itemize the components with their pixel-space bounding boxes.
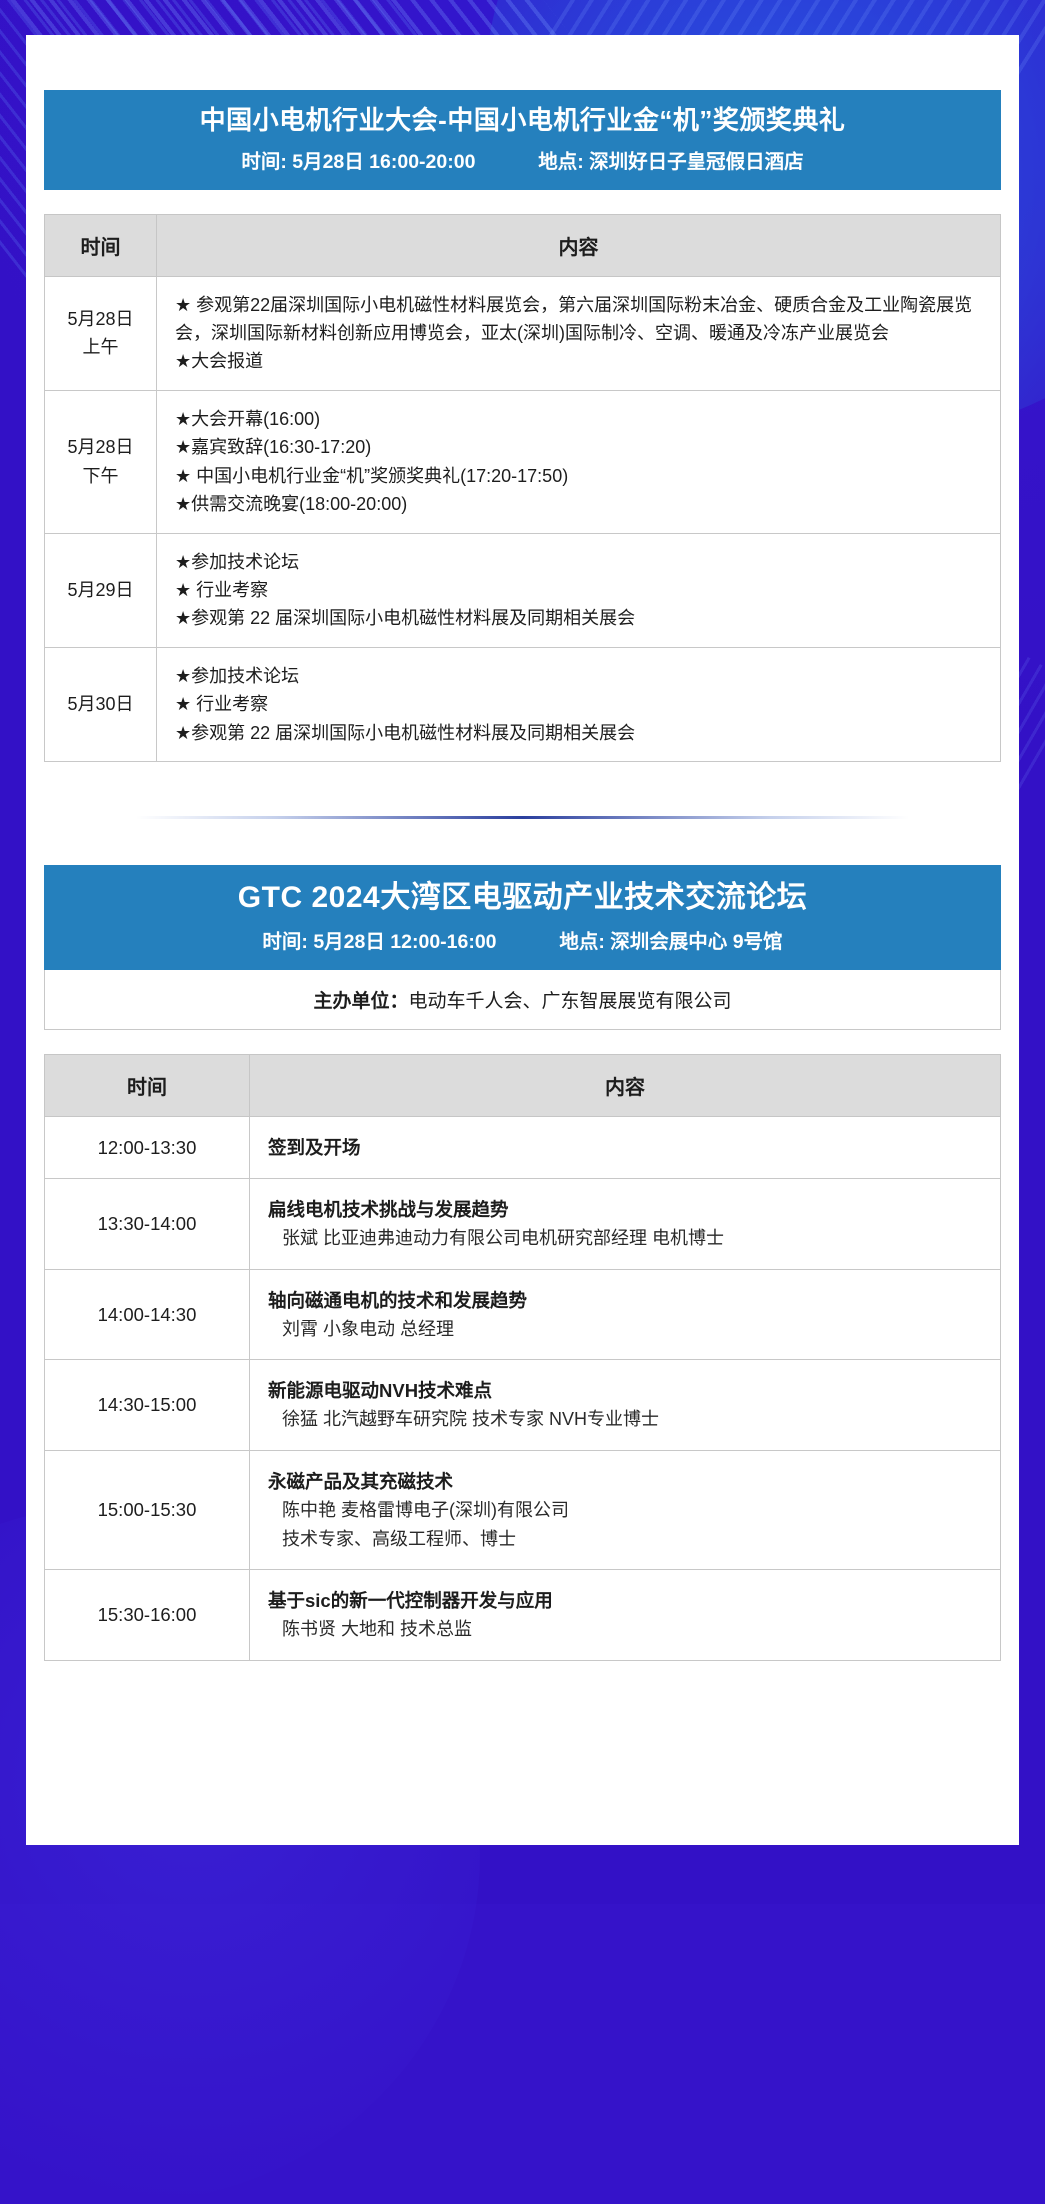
cell-time: 5月28日 上午 [45,276,157,390]
content-line: ★ 参观第22届深圳国际小电机磁性材料展览会，第六届深圳国际粉末冶金、硬质合金及… [175,291,990,348]
section2-host-row: 主办单位：电动车千人会、广东智展展览有限公司 [44,970,1001,1030]
section1-meta: 时间: 5月28日 16:00-20:00 地点: 深圳好日子皇冠假日酒店 [54,145,991,174]
cell-content: ★大会开幕(16:00) ★嘉宾致辞(16:30-17:20) ★ 中国小电机行… [157,390,1001,533]
content-line: ★参加技术论坛 [175,548,990,576]
cell-content: 轴向磁通电机的技术和发展趋势 刘霄 小象电动 总经理 [250,1269,1001,1360]
section-divider [136,816,909,819]
session-topic: 基于sic的新一代控制器开发与应用 [268,1586,990,1615]
cell-content: ★参加技术论坛 ★ 行业考察 ★参观第 22 届深圳国际小电机磁性材料展及同期相… [157,533,1001,647]
section1-time: 时间: 5月28日 16:00-20:00 [241,151,475,173]
session-speaker: 陈书贤 大地和 技术总监 [268,1615,990,1643]
cell-time: 15:00-15:30 [45,1450,250,1569]
col-header-content: 内容 [250,1054,1001,1116]
section1-agenda-table: 时间 内容 5月28日 上午 ★ 参观第22届深圳国际小电机磁性材料展览会，第六… [44,214,1001,763]
session-speaker: 陈中艳 麦格雷博电子(深圳)有限公司 技术专家、高级工程师、博士 [268,1496,990,1553]
section2-place: 地点: 深圳会展中心 9号馆 [559,931,782,953]
col-header-content: 内容 [157,214,1001,276]
content-line: ★参加技术论坛 [175,662,990,690]
table-row: 14:00-14:30 轴向磁通电机的技术和发展趋势 刘霄 小象电动 总经理 [45,1269,1001,1360]
cell-time: 14:00-14:30 [45,1269,250,1360]
content-line: ★ 中国小电机行业金“机”奖颁奖典礼(17:20-17:50) [175,462,990,490]
session-topic: 签到及开场 [268,1133,990,1162]
col-header-time: 时间 [45,1054,250,1116]
table-row: 14:30-15:00 新能源电驱动NVH技术难点 徐猛 北汽越野车研究院 技术… [45,1360,1001,1451]
table-row: 5月30日 ★参加技术论坛 ★ 行业考察 ★参观第 22 届深圳国际小电机磁性材… [45,647,1001,761]
section2-time: 时间: 5月28日 12:00-16:00 [262,931,496,953]
content-line: ★大会报道 [175,347,990,375]
cell-content: ★ 参观第22届深圳国际小电机磁性材料展览会，第六届深圳国际粉末冶金、硬质合金及… [157,276,1001,390]
cell-time: 13:30-14:00 [45,1178,250,1269]
section2-meta: 时间: 5月28日 12:00-16:00 地点: 深圳会展中心 9号馆 [54,925,991,954]
content-line: ★供需交流晚宴(18:00-20:00) [175,490,990,518]
cell-time: 12:00-13:30 [45,1116,250,1178]
table-header-row: 时间 内容 [45,1054,1001,1116]
cell-content: 签到及开场 [250,1116,1001,1178]
section2-agenda-table: 时间 内容 12:00-13:30 签到及开场 13:30-14:00 扁线电机… [44,1054,1001,1661]
cell-time: 5月29日 [45,533,157,647]
cell-time: 5月30日 [45,647,157,761]
table-row: 5月28日 上午 ★ 参观第22届深圳国际小电机磁性材料展览会，第六届深圳国际粉… [45,276,1001,390]
content-line: ★参观第 22 届深圳国际小电机磁性材料展及同期相关展会 [175,604,990,632]
cell-content: ★参加技术论坛 ★ 行业考察 ★参观第 22 届深圳国际小电机磁性材料展及同期相… [157,647,1001,761]
session-topic: 新能源电驱动NVH技术难点 [268,1376,990,1405]
session-speaker: 刘霄 小象电动 总经理 [268,1315,990,1343]
table-row: 5月28日 下午 ★大会开幕(16:00) ★嘉宾致辞(16:30-17:20)… [45,390,1001,533]
section1-place: 地点: 深圳好日子皇冠假日酒店 [538,151,803,173]
section2-title: GTC 2024大湾区电驱动产业技术交流论坛 [54,879,991,917]
table-row: 15:00-15:30 永磁产品及其充磁技术 陈中艳 麦格雷博电子(深圳)有限公… [45,1450,1001,1569]
col-header-time: 时间 [45,214,157,276]
cell-time: 5月28日 下午 [45,390,157,533]
table-row: 12:00-13:30 签到及开场 [45,1116,1001,1178]
session-speaker: 张斌 比亚迪弗迪动力有限公司电机研究部经理 电机博士 [268,1224,990,1252]
session-topic: 永磁产品及其充磁技术 [268,1467,990,1496]
cell-content: 基于sic的新一代控制器开发与应用 陈书贤 大地和 技术总监 [250,1569,1001,1660]
cell-content: 新能源电驱动NVH技术难点 徐猛 北汽越野车研究院 技术专家 NVH专业博士 [250,1360,1001,1451]
cell-content: 扁线电机技术挑战与发展趋势 张斌 比亚迪弗迪动力有限公司电机研究部经理 电机博士 [250,1178,1001,1269]
content-line: ★大会开幕(16:00) [175,405,990,433]
session-topic: 扁线电机技术挑战与发展趋势 [268,1195,990,1224]
section1-header: 中国小电机行业大会-中国小电机行业金“机”奖颁奖典礼 时间: 5月28日 16:… [44,90,1001,190]
table-header-row: 时间 内容 [45,214,1001,276]
table-row: 15:30-16:00 基于sic的新一代控制器开发与应用 陈书贤 大地和 技术… [45,1569,1001,1660]
host-label: 主办单位： [313,991,408,1012]
cell-time: 14:30-15:00 [45,1360,250,1451]
section2-header: GTC 2024大湾区电驱动产业技术交流论坛 时间: 5月28日 12:00-1… [44,865,1001,970]
section1-title: 中国小电机行业大会-中国小电机行业金“机”奖颁奖典礼 [54,104,991,137]
session-speaker: 徐猛 北汽越野车研究院 技术专家 NVH专业博士 [268,1405,990,1433]
table-row: 5月29日 ★参加技术论坛 ★ 行业考察 ★参观第 22 届深圳国际小电机磁性材… [45,533,1001,647]
host-value: 电动车千人会、广东智展展览有限公司 [409,991,732,1012]
content-line: ★嘉宾致辞(16:30-17:20) [175,433,990,461]
content-line: ★ 行业考察 [175,576,990,604]
cell-content: 永磁产品及其充磁技术 陈中艳 麦格雷博电子(深圳)有限公司 技术专家、高级工程师… [250,1450,1001,1569]
poster-card: 中国小电机行业大会-中国小电机行业金“机”奖颁奖典礼 时间: 5月28日 16:… [26,35,1019,1845]
content-line: ★ 行业考察 [175,690,990,718]
table-row: 13:30-14:00 扁线电机技术挑战与发展趋势 张斌 比亚迪弗迪动力有限公司… [45,1178,1001,1269]
session-topic: 轴向磁通电机的技术和发展趋势 [268,1286,990,1315]
content-line: ★参观第 22 届深圳国际小电机磁性材料展及同期相关展会 [175,719,990,747]
cell-time: 15:30-16:00 [45,1569,250,1660]
